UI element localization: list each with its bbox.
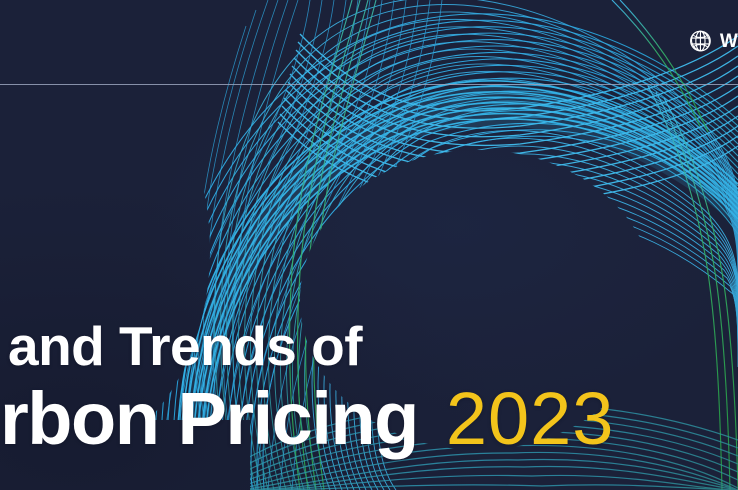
title-line-1: and Trends of	[0, 319, 738, 374]
cover-title-block: and Trends of rbon Pricing 2023	[0, 319, 738, 456]
world-bank-logo: W	[686, 18, 738, 64]
title-year: 2023	[446, 382, 615, 456]
header-divider	[0, 84, 738, 85]
title-line-2-text: rbon Pricing	[0, 382, 418, 456]
title-line-2: rbon Pricing 2023	[0, 382, 738, 456]
world-bank-globe-icon	[686, 19, 715, 63]
report-cover: W and Trends of rbon Pricing 2023	[0, 0, 738, 490]
world-bank-wordmark: W	[720, 32, 738, 51]
